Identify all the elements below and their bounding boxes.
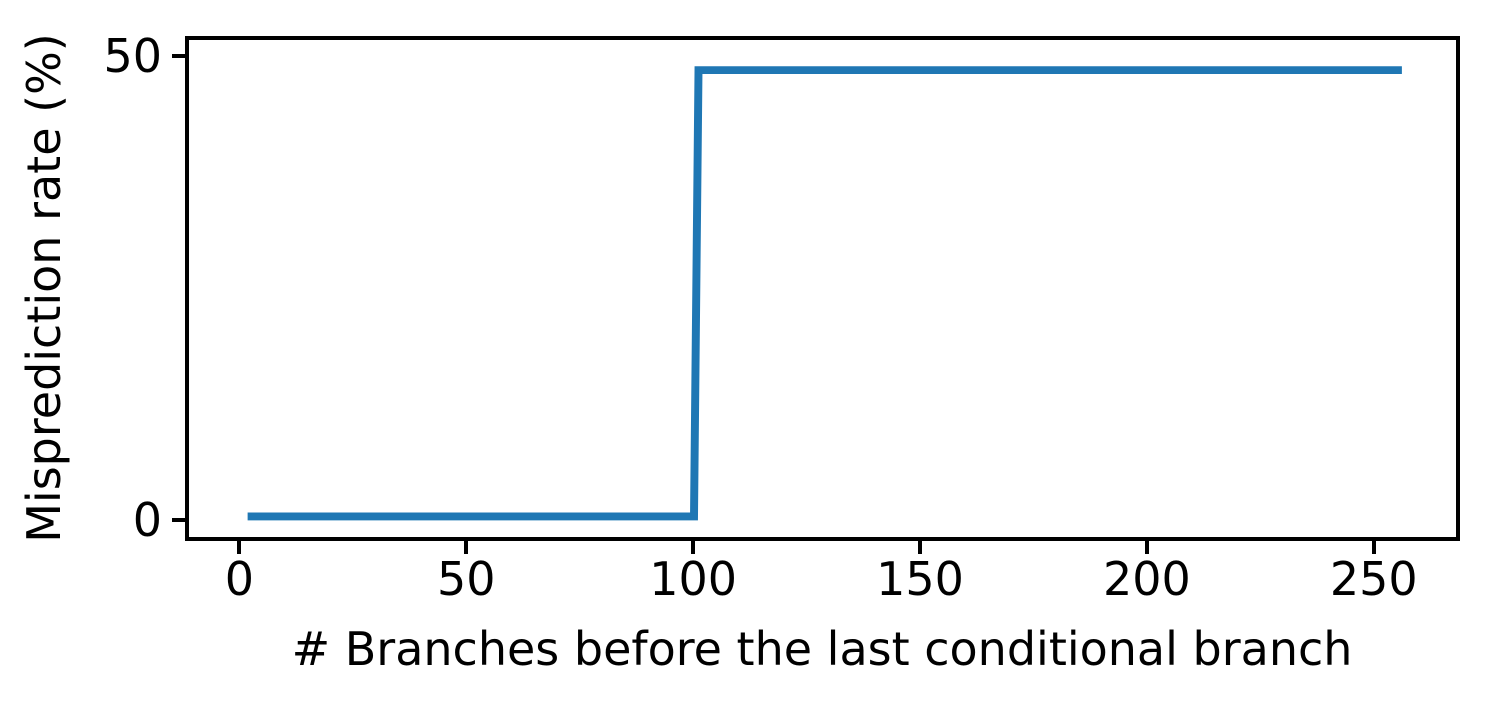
figure-canvas: Misprediction rate (%) 050 0501001502002… bbox=[0, 0, 1494, 715]
plot-area bbox=[185, 36, 1460, 541]
y-tick-mark bbox=[172, 518, 185, 522]
x-tick-label: 50 bbox=[437, 556, 496, 602]
x-axis-label: # Branches before the last conditional b… bbox=[292, 625, 1353, 673]
data-line-layer bbox=[189, 40, 1456, 537]
x-tick-label: 150 bbox=[876, 556, 964, 602]
y-tick-label: 0 bbox=[133, 497, 162, 543]
x-tick-label: 100 bbox=[649, 556, 737, 602]
x-tick-label: 250 bbox=[1330, 556, 1418, 602]
y-axis-label: Misprediction rate (%) bbox=[20, 33, 68, 543]
data-line-misprediction-rate bbox=[248, 70, 1402, 516]
y-tick-mark bbox=[172, 54, 185, 58]
y-tick-label: 50 bbox=[103, 33, 162, 79]
x-tick-label: 200 bbox=[1103, 556, 1191, 602]
x-tick-label: 0 bbox=[225, 556, 254, 602]
